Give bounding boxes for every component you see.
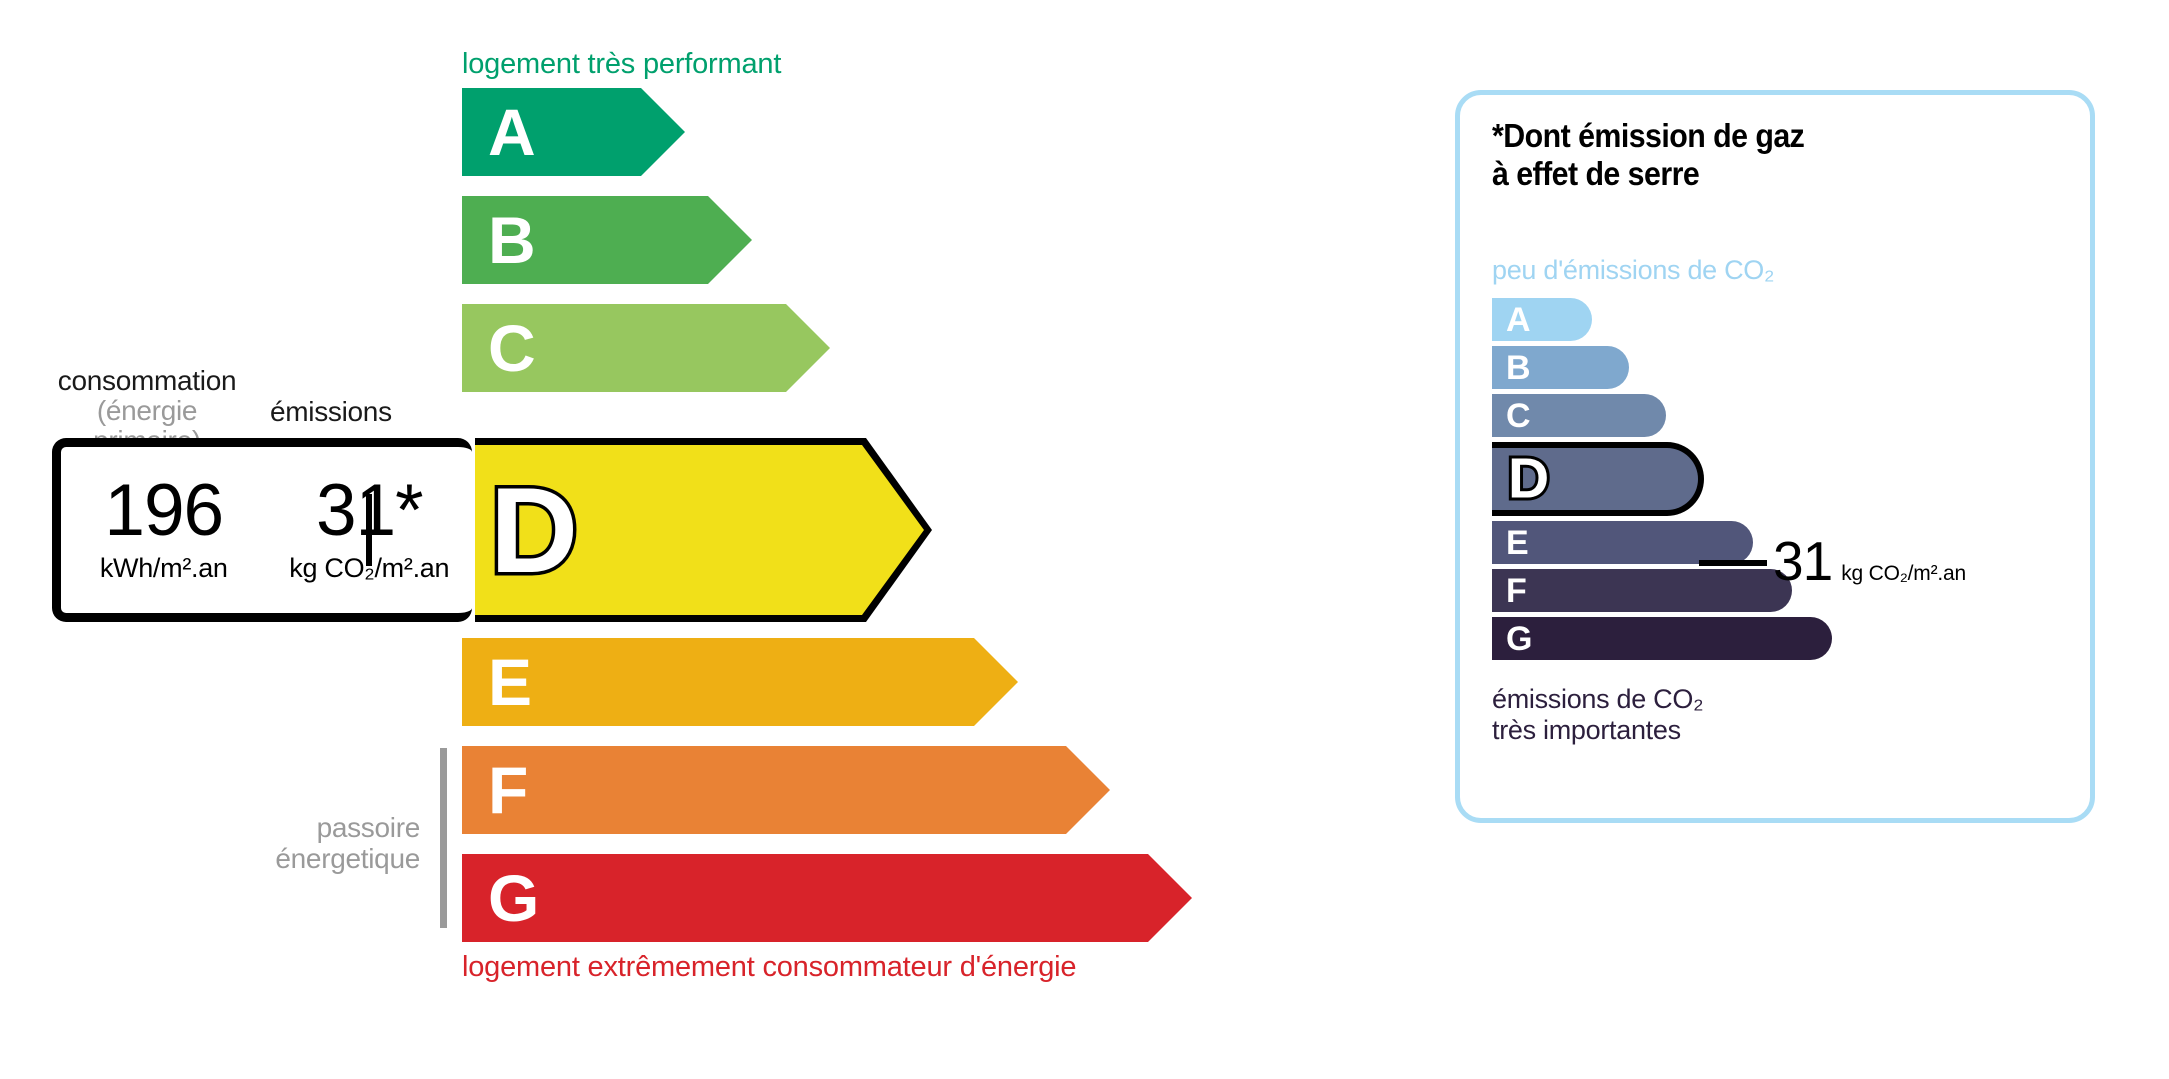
energy-bottom-caption: logement extrêmement consommateur d'éner…	[462, 951, 1076, 984]
energy-grade-bar-g	[462, 854, 1192, 942]
energy-grade-letter-f: F	[488, 757, 528, 823]
passoire-line-1: passoire	[180, 812, 420, 843]
passoire-bracket	[440, 748, 447, 928]
co2-grade-bar-g	[1492, 617, 1832, 660]
energy-grade-row-g: G	[462, 854, 1192, 942]
co2-title-line-2: à effet de serre	[1492, 155, 1804, 193]
emissions-label: émissions	[270, 396, 460, 428]
consumption-value: 196	[61, 476, 267, 545]
co2-grade-letter-c: C	[1506, 399, 1531, 433]
energy-top-caption: logement très performant	[462, 48, 781, 81]
co2-grade-letter-f: F	[1506, 574, 1527, 608]
consumption-unit: kWh/m².an	[61, 553, 267, 584]
co2-grade-row-g: G	[1492, 617, 1832, 660]
energy-grade-letter-b: B	[488, 207, 536, 273]
co2-grade-row-d-current: D	[1492, 442, 1704, 516]
energy-grade-row-d-current: D	[462, 438, 932, 622]
energy-grade-letter-d: D	[490, 469, 578, 591]
energy-grade-row-e: E	[462, 638, 1018, 726]
co2-bottom-caption-line-1: émissions de CO₂	[1492, 684, 1703, 715]
passoire-line-2: énergetique	[180, 843, 420, 874]
co2-callout-value: 31	[1773, 534, 1832, 589]
co2-bottom-caption: émissions de CO₂ très importantes	[1492, 684, 1703, 746]
dpe-energy-label: logement très performant A B C D E	[0, 0, 2169, 1079]
energy-grade-letter-c: C	[488, 315, 536, 381]
energy-grade-row-a: A	[462, 88, 685, 176]
co2-grade-row-a: A	[1492, 298, 1592, 341]
energy-grade-letter-e: E	[488, 649, 532, 715]
co2-emissions-panel: *Dont émission de gaz à effet de serre p…	[1455, 90, 2095, 823]
energy-grade-letter-a: A	[488, 99, 536, 165]
energy-grade-letter-g: G	[488, 865, 539, 931]
consumption-value-cell: 196 kWh/m².an	[61, 476, 267, 584]
energy-grade-bar-e	[462, 638, 1018, 726]
co2-grade-letter-g: G	[1506, 622, 1532, 656]
energy-grade-row-f: F	[462, 746, 1110, 834]
energy-grade-bar-f	[462, 746, 1110, 834]
value-box-divider	[366, 494, 372, 566]
co2-bottom-caption-line-2: très importantes	[1492, 715, 1703, 746]
energy-grade-row-c: C	[462, 304, 830, 392]
co2-title-line-1: *Dont émission de gaz	[1492, 117, 1804, 155]
passoire-energetique-label: passoire énergetique	[180, 812, 420, 875]
dpe-value-box: 196 kWh/m².an 31* kg CO₂/m².an	[52, 438, 472, 622]
co2-grade-row-b: B	[1492, 346, 1629, 389]
co2-top-caption: peu d'émissions de CO₂	[1492, 255, 1774, 286]
co2-grade-letter-d: D	[1508, 451, 1549, 508]
co2-callout-unit: kg CO₂/m².an	[1841, 562, 1966, 586]
co2-grade-letter-b: B	[1506, 351, 1531, 385]
consumption-label-main: consommation	[52, 366, 242, 396]
co2-grade-letter-e: E	[1506, 526, 1529, 560]
emission-value-cell: 31* kg CO₂/m².an	[267, 476, 473, 584]
energy-grade-row-b: B	[462, 196, 752, 284]
co2-value-callout: 31 kg CO₂/m².an	[1699, 534, 1966, 589]
co2-callout-leader-line	[1699, 560, 1767, 566]
co2-grade-row-c: C	[1492, 394, 1666, 437]
co2-panel-title: *Dont émission de gaz à effet de serre	[1492, 117, 1804, 192]
energy-performance-chart: logement très performant A B C D E	[0, 0, 1400, 1079]
co2-grade-letter-a: A	[1506, 303, 1531, 337]
